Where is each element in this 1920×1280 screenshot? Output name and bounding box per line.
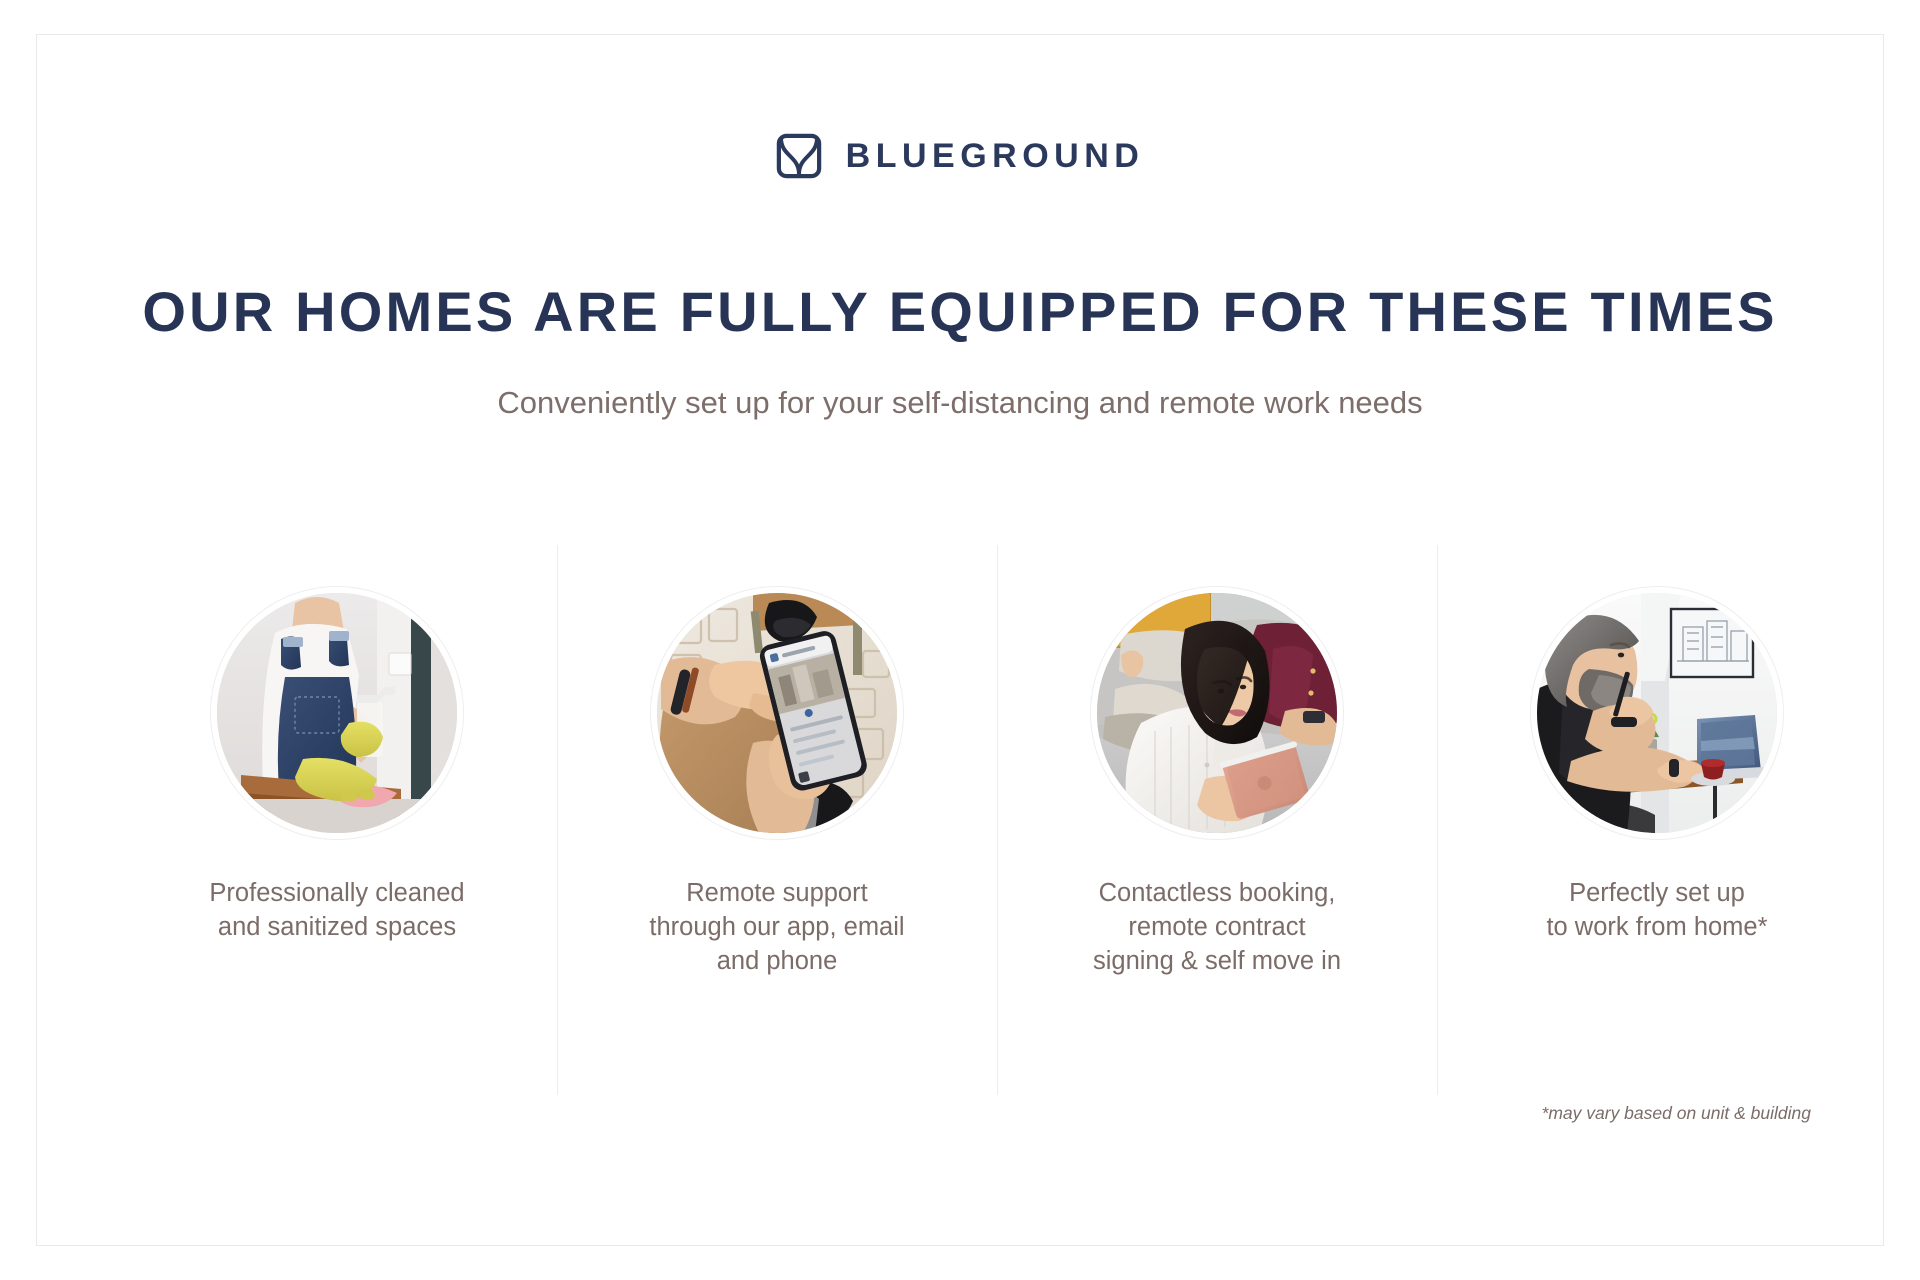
cleaning-photo-icon [217, 593, 457, 833]
thumbnail-ring [210, 586, 464, 840]
thumbnail-ring [650, 586, 904, 840]
thumbnail-ring [1530, 586, 1784, 840]
feature-columns: Professionally cleaned and sanitized spa… [117, 545, 1877, 1095]
feature-item: Professionally cleaned and sanitized spa… [117, 545, 557, 1095]
page-title: OUR HOMES ARE FULLY EQUIPPED FOR THESE T… [37, 283, 1883, 342]
tablet-booking-photo-icon [1097, 593, 1337, 833]
feature-item: Remote support through our app, email an… [557, 545, 997, 1095]
mobile-app-photo-icon [657, 593, 897, 833]
feature-caption: Remote support through our app, email an… [649, 876, 904, 978]
brand-wordmark: BLUEGROUND [846, 139, 1145, 173]
feature-caption: Contactless booking, remote contract sig… [1093, 876, 1341, 978]
feature-caption: Perfectly set up to work from home* [1546, 876, 1767, 944]
feature-item: Perfectly set up to work from home* [1437, 545, 1877, 1095]
footnote-disclaimer: *may vary based on unit & building [1542, 1103, 1811, 1124]
work-from-home-photo-icon [1537, 593, 1777, 833]
brand-lockup: BLUEGROUND [37, 133, 1883, 179]
feature-item: Contactless booking, remote contract sig… [997, 545, 1437, 1095]
poster-frame: BLUEGROUND OUR HOMES ARE FULLY EQUIPPED … [36, 34, 1884, 1246]
blueground-square-logo-icon [776, 133, 822, 179]
thumbnail-ring [1090, 586, 1344, 840]
feature-caption: Professionally cleaned and sanitized spa… [209, 876, 464, 944]
page-subtitle: Conveniently set up for your self-distan… [37, 384, 1883, 421]
